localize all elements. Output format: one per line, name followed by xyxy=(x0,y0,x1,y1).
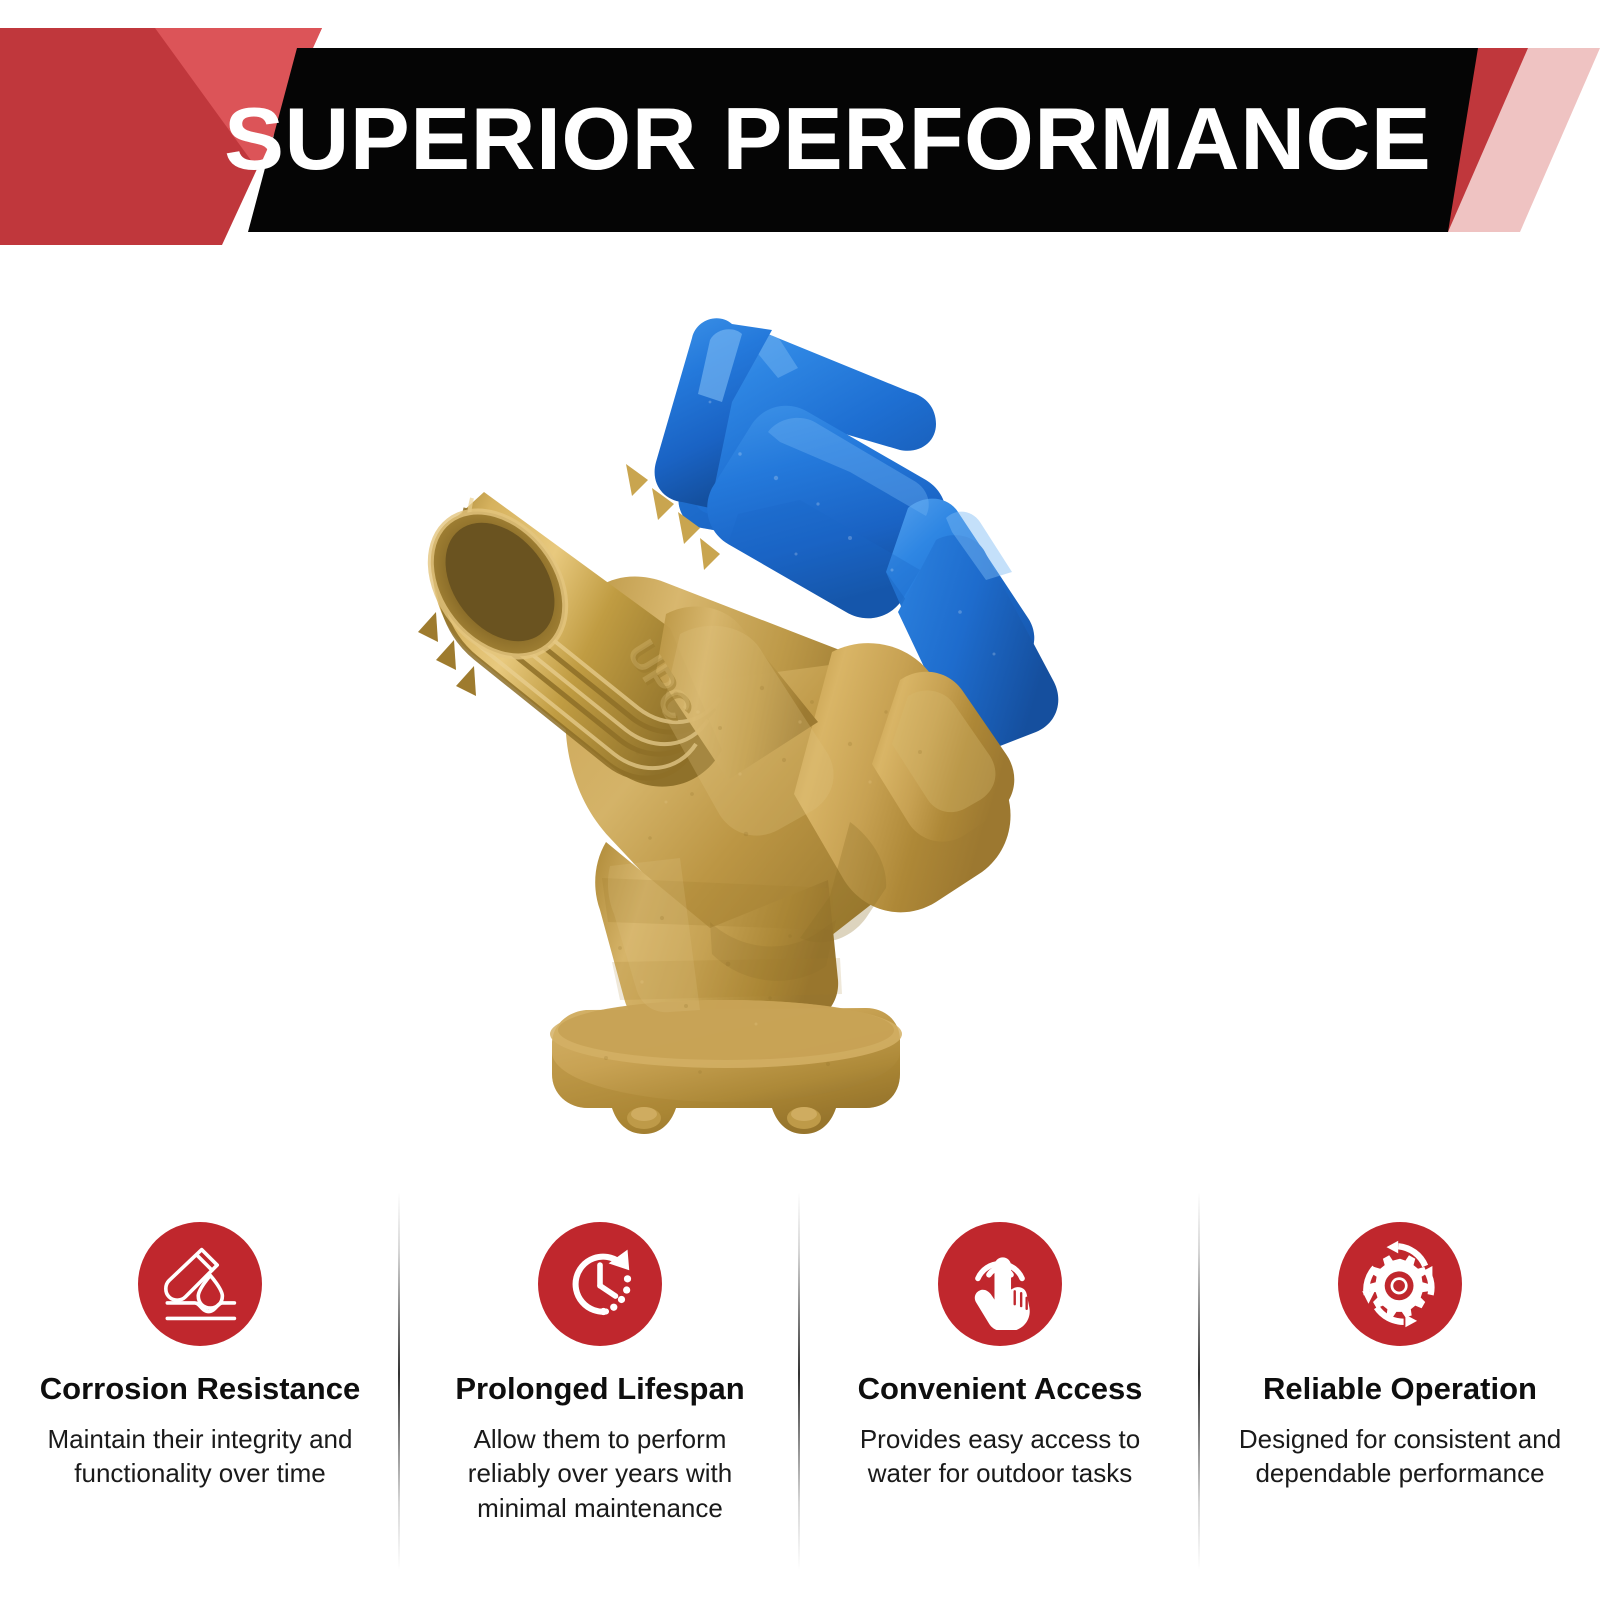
feature-title: Corrosion Resistance xyxy=(40,1372,360,1406)
feature-convenient-access: Convenient Access Provides easy access t… xyxy=(800,1192,1200,1600)
banner-black-shape xyxy=(248,48,1478,232)
product-marketing-page: SUPERIOR PERFORMANCE xyxy=(0,0,1600,1600)
feature-description: Provides easy access to water for outdoo… xyxy=(830,1422,1170,1491)
product-valve-illustration: UPC UPC xyxy=(380,282,1260,1182)
touch-hand-icon xyxy=(938,1222,1062,1346)
clock-rotate-icon xyxy=(538,1222,662,1346)
product-image-area: UPC UPC xyxy=(0,262,1600,1192)
features-row: Corrosion Resistance Maintain their inte… xyxy=(0,1192,1600,1600)
feature-corrosion-resistance: Corrosion Resistance Maintain their inte… xyxy=(0,1192,400,1600)
feature-title: Convenient Access xyxy=(858,1372,1143,1406)
gear-arrows-icon xyxy=(1338,1222,1462,1346)
feature-description: Allow them to perform reliably over year… xyxy=(430,1422,770,1525)
feature-reliable-operation: Reliable Operation Designed for consiste… xyxy=(1200,1192,1600,1600)
feature-title: Prolonged Lifespan xyxy=(455,1372,744,1406)
header-banner: SUPERIOR PERFORMANCE xyxy=(0,0,1600,260)
feature-prolonged-lifespan: Prolonged Lifespan Allow them to perform… xyxy=(400,1192,800,1600)
feature-description: Designed for consistent and dependable p… xyxy=(1230,1422,1570,1491)
feature-description: Maintain their integrity and functionali… xyxy=(30,1422,370,1491)
test-tube-droplet-icon xyxy=(138,1222,262,1346)
feature-title: Reliable Operation xyxy=(1263,1372,1537,1406)
